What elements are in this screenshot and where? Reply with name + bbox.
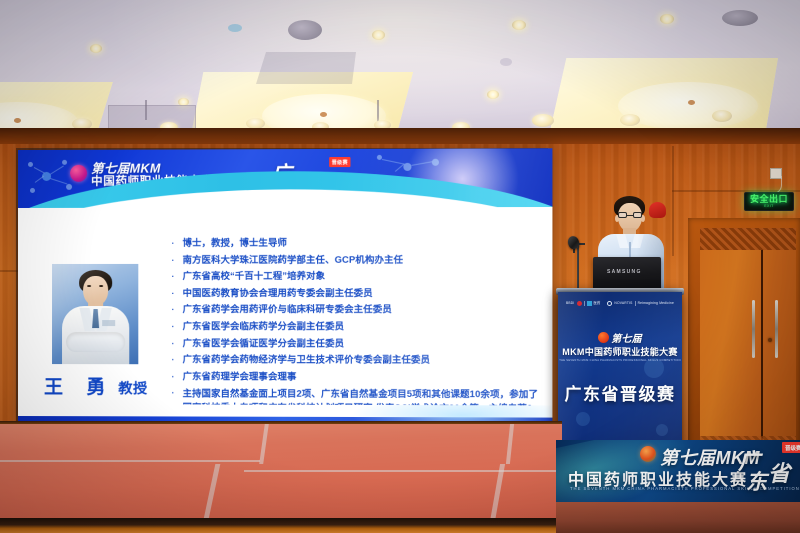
bullet-text: 中国医药教育协会合理用药专委会副主任委员 (183, 288, 541, 300)
door-handle-left[interactable] (752, 300, 755, 358)
ceiling-air-vent (288, 20, 322, 40)
slide-body: 王 勇 教授 · 博士，教授，博士生导师 · 南方医科大学珠江医院药学部主任、G… (18, 207, 552, 407)
list-item: · 博士，教授，博士生导师 (171, 237, 541, 249)
list-item: · 广东省药学会药物经济学与卫生技术评价专委会副主任委员 (171, 354, 541, 367)
list-item: · 南方医科大学珠江医院药学部主任、GCP机构办主任 (171, 254, 541, 266)
exit-door[interactable] (700, 250, 796, 450)
molecule-graphic (26, 158, 74, 198)
slide-header-band: 第七届MKM 中国药师职业技能大赛 THE SEVENTH MKM CHINA … (18, 148, 552, 208)
door-lock[interactable] (768, 338, 772, 342)
ceiling-sprinkler (500, 58, 512, 66)
speaker-credentials-list: · 博士，教授，博士生导师 · 南方医科大学珠江医院药学部主任、GCP机构办主任… (171, 237, 541, 429)
bullet-text: 广东省医学会循证医学分会副主任委员 (183, 338, 541, 351)
exit-sign-english-text: EXIT (764, 204, 773, 209)
bullet-dot-icon: · (171, 321, 176, 333)
bullet-dot-icon: · (171, 288, 176, 300)
stage-floor (0, 424, 562, 533)
ceiling-air-vent (722, 10, 758, 26)
door-center-seam (761, 250, 763, 450)
ceiling-downlight (712, 110, 732, 122)
ceiling-downlight (532, 114, 554, 127)
bullet-dot-icon: · (171, 338, 176, 350)
laptop-brand-mark: SAMSUNG (607, 269, 642, 275)
ceiling-sensor (228, 24, 242, 32)
stage-seam-vertical (259, 424, 269, 464)
competition-logo-mark (70, 165, 87, 182)
ceiling-spotlight (660, 14, 674, 24)
banner-stage-badge: 晋级赛 (782, 442, 800, 453)
door-handle-right[interactable] (775, 300, 778, 358)
bullet-dot-icon: · (171, 271, 176, 283)
ceiling-hanger-rod (145, 100, 147, 120)
portrait-gloss (52, 264, 138, 364)
speaker-portrait-photo (52, 264, 138, 364)
ceiling-spotlight (487, 90, 499, 99)
banner-logo-mark-icon (640, 446, 656, 462)
bullet-dot-icon: · (171, 238, 176, 250)
bullet-dot-icon: · (171, 254, 176, 266)
bullet-text: 广东省医学会临床药学分会副主任委员 (183, 321, 541, 333)
list-item: · 中国医药教育协会合理用药专委会副主任委员 (171, 288, 541, 300)
bullet-text: 广东省药理学会理事会理事 (183, 371, 541, 384)
exit-sign-chinese-text: 安全出口 (750, 195, 788, 204)
list-item: · 广东省药理学会理事会理事 (171, 371, 541, 384)
speaker-name-row: 王 勇 教授 (44, 372, 185, 399)
list-item: · 广东省医学会临床药学分会副主任委员 (171, 321, 541, 333)
bullet-text: 广东省药学会药物经济学与卫生技术评价专委会副主任委员 (183, 354, 541, 367)
laptop-lid[interactable]: SAMSUNG (593, 257, 661, 291)
ceiling-spotlight (90, 44, 102, 53)
glasses-bridge (627, 215, 633, 216)
banner-province-mark: 广 东 省 晋级赛 (738, 442, 796, 500)
backdrop-banner: 第七届MKM 中国药师职业技能大赛 THE SEVENTH MKM CHINA … (556, 440, 800, 504)
bullet-dot-icon: · (171, 354, 176, 366)
bullet-text: 博士，教授，博士生导师 (183, 237, 541, 249)
projection-screen[interactable]: 第七届MKM 中国药师职业技能大赛 THE SEVENTH MKM CHINA … (18, 148, 552, 429)
ceiling-spotlight (372, 30, 385, 40)
list-item: · 广东省高校“千百十工程”培养对象 (171, 271, 541, 283)
emergency-exit-sign: 安全出口 EXIT (744, 192, 794, 211)
ceiling-spotlight (512, 20, 526, 30)
glasses-lens-left (618, 212, 627, 218)
conference-hall-photo: 安全出口 EXIT (0, 0, 800, 533)
ceiling (0, 0, 800, 135)
list-item: · 广东省医学会循证医学分会副主任委员 (171, 338, 541, 351)
glasses-lens-right (633, 212, 642, 218)
banner-province-char-2: 东 (746, 466, 767, 496)
banner-foreground-floor (556, 502, 800, 533)
speaker-academic-title: 教授 (118, 378, 147, 398)
ceiling-coffer-shadow-center (256, 52, 356, 84)
bullet-text: 广东省高校“千百十工程”培养对象 (183, 271, 541, 283)
stage-seam-horizontal (0, 460, 260, 462)
stage-seam-horizontal (244, 470, 562, 472)
stage-seam-vertical (506, 424, 514, 464)
province-stage-badge: 晋级赛 (329, 157, 350, 167)
banner-province-char-3: 省 (768, 456, 790, 488)
bullet-text: 广东省药学会用药评价与临床科研专委会主任委员 (183, 304, 541, 316)
ceiling-downlight (620, 114, 640, 126)
speaker-name: 王 勇 (44, 372, 114, 399)
bullet-dot-icon: · (171, 304, 176, 316)
stage-front-face (0, 518, 562, 533)
door-transom-panel (700, 228, 796, 250)
ceiling-hanger-rod (377, 100, 379, 122)
list-item: · 广东省药学会用药评价与临床科研专委会主任委员 (171, 304, 541, 316)
bullet-text: 南方医科大学珠江医院药学部主任、GCP机构办主任 (183, 254, 541, 266)
speaker-glasses (618, 212, 642, 219)
bullet-dot-icon: · (171, 371, 176, 383)
